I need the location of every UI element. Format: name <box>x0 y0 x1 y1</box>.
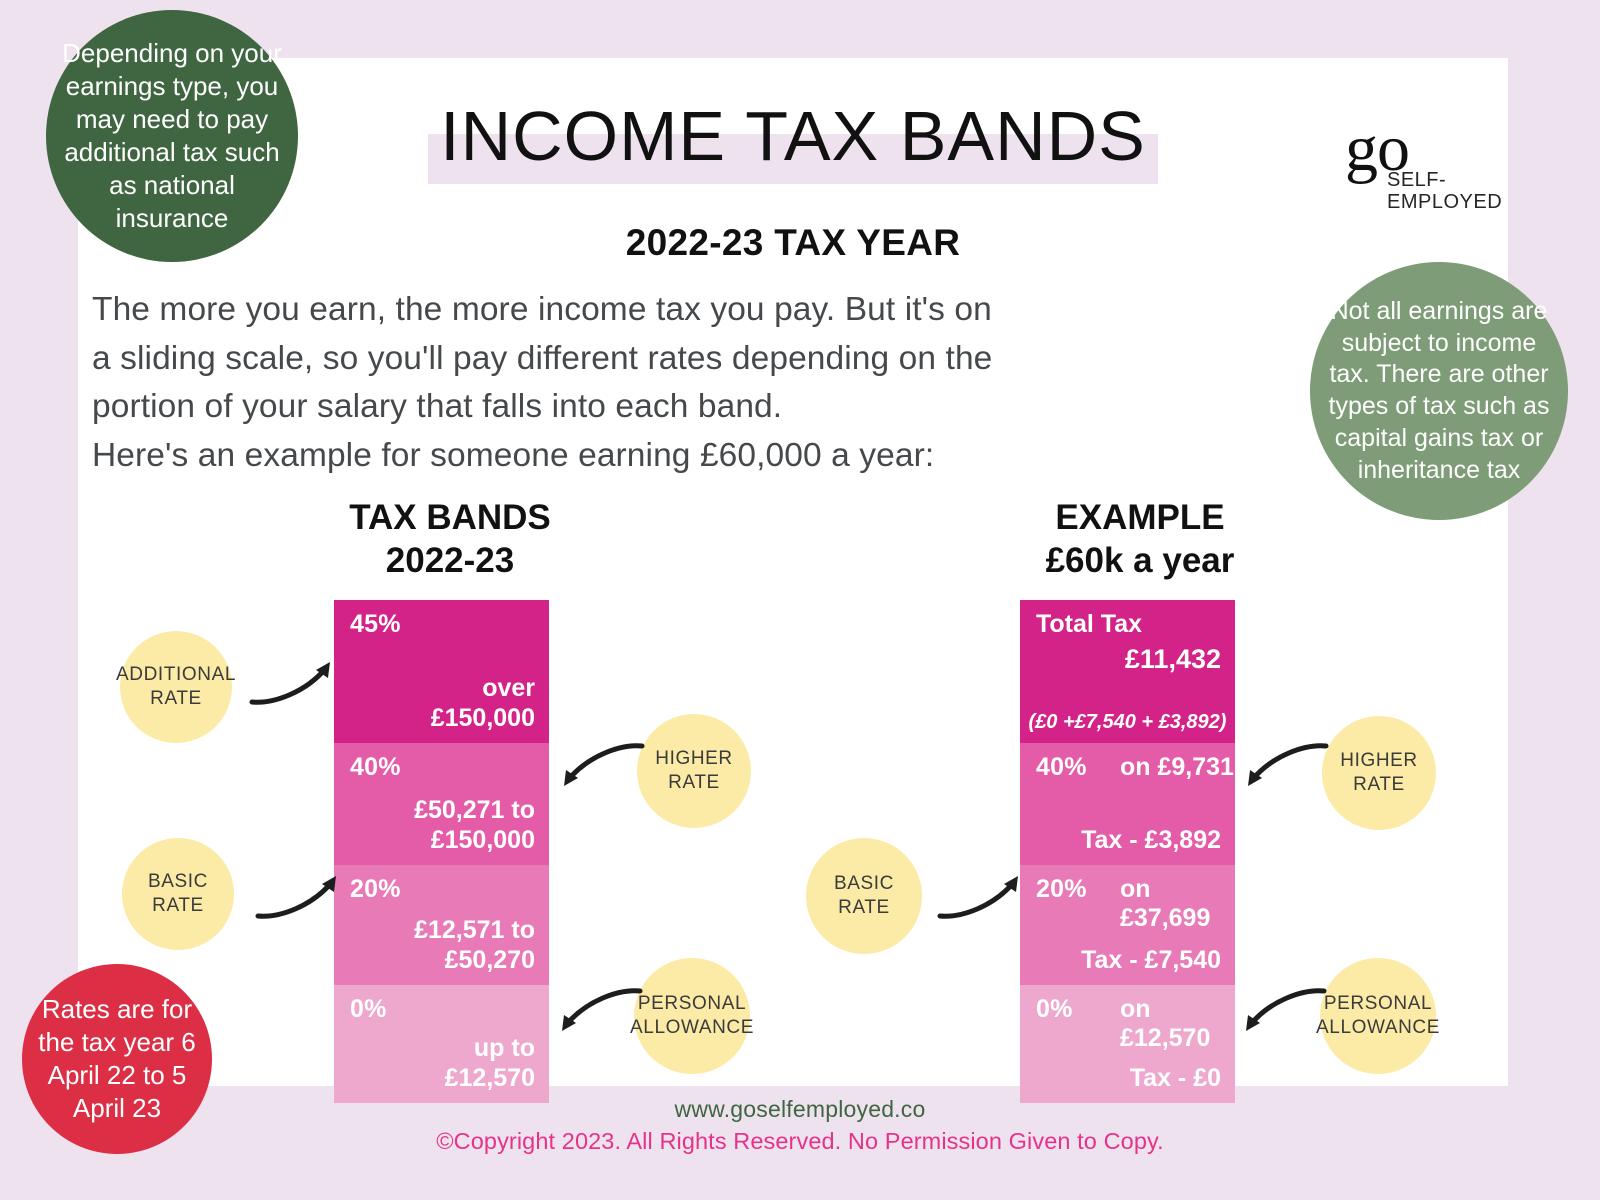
basic-rate-middle-line2: RATE <box>834 896 894 920</box>
arrow-left-personal-allowance-icon <box>554 985 646 1045</box>
label-higher-rate-left: HIGHER RATE <box>637 714 751 828</box>
example-row-on: on £12,570 <box>1120 995 1235 1053</box>
basic-rate-left-line1: BASIC <box>148 870 208 894</box>
bands-heading-line2: 2022-23 <box>290 540 610 583</box>
logo-tagline-line2: EMPLOYED <box>1387 192 1502 214</box>
example-column-heading: EXAMPLE £60k a year <box>975 497 1305 582</box>
example-stack: Total Tax£11,432(£0 +£7,540 + £3,892)40%… <box>1020 600 1235 1103</box>
personal-allowance-left-line2: ALLOWANCE <box>630 1016 754 1040</box>
example-heading-line2: £60k a year <box>975 540 1305 583</box>
tax-band-range-line2: £12,570 <box>445 1064 535 1092</box>
tax-band-range-line1: up to <box>474 1034 535 1062</box>
example-row: 40%on £9,731Tax - £3,892 <box>1020 743 1235 865</box>
personal-allowance-right-line1: PERSONAL <box>1316 992 1440 1016</box>
tax-band-row: 45%over£150,000 <box>334 600 549 743</box>
tax-band-range-line1: £12,571 to <box>414 916 535 944</box>
page-subtitle: 2022-23 TAX YEAR <box>78 222 1508 264</box>
bands-heading-line1: TAX BANDS <box>290 497 610 540</box>
footer-copyright: ©Copyright 2023. All Rights Reserved. No… <box>0 1128 1600 1155</box>
arrow-right-additional-icon <box>246 648 342 710</box>
label-higher-rate-right: HIGHER RATE <box>1322 716 1436 830</box>
tax-band-rate: 45% <box>350 610 535 639</box>
basic-rate-left-line2: RATE <box>148 894 208 918</box>
intro-line-3: portion of your salary that falls into e… <box>92 383 1312 432</box>
example-row-tax: Tax - £3,892 <box>1081 826 1221 856</box>
bands-column-heading: TAX BANDS 2022-23 <box>290 497 610 582</box>
example-heading-line1: EXAMPLE <box>975 497 1305 540</box>
tax-bands-stack: 45%over£150,00040%£50,271 to£150,00020%£… <box>334 600 549 1103</box>
label-basic-rate-left: BASIC RATE <box>122 838 234 950</box>
basic-rate-middle-line1: BASIC <box>834 872 894 896</box>
tax-band-rate: 20% <box>350 875 535 904</box>
tax-band-range: over£150,000 <box>431 674 535 733</box>
example-total-label: Total Tax <box>1036 610 1221 639</box>
higher-rate-right-line2: RATE <box>1340 773 1418 797</box>
page-title-text: INCOME TAX BANDS <box>440 97 1146 175</box>
tax-band-range-line1: over <box>482 674 535 702</box>
additional-rate-line1: ADDITIONAL <box>116 663 236 687</box>
tax-band-range: up to£12,570 <box>445 1034 535 1093</box>
personal-allowance-left-line1: PERSONAL <box>630 992 754 1016</box>
example-row-on: on £9,731 <box>1120 753 1234 782</box>
tax-band-range: £50,271 to£150,000 <box>414 796 535 855</box>
tax-band-range: £12,571 to£50,270 <box>414 916 535 975</box>
label-personal-allowance-right: PERSONAL ALLOWANCE <box>1320 958 1436 1074</box>
tax-band-range-line2: £50,270 <box>445 946 535 974</box>
example-row: Total Tax£11,432(£0 +£7,540 + £3,892) <box>1020 600 1235 743</box>
arrow-right-basic-example-icon <box>934 862 1030 924</box>
arrow-left-higher-icon <box>556 740 648 800</box>
logo-tagline: SELF- EMPLOYED <box>1387 170 1502 213</box>
higher-rate-left-line1: HIGHER <box>655 747 733 771</box>
tax-band-range-line1: £50,271 to <box>414 796 535 824</box>
example-row: 20%on £37,699Tax - £7,540 <box>1020 865 1235 985</box>
example-row-tax: Tax - £0 <box>1130 1064 1221 1094</box>
higher-rate-left-line2: RATE <box>655 771 733 795</box>
example-row-on: on £37,699 <box>1120 875 1235 933</box>
arrow-left-personal-allowance-example-icon <box>1238 985 1330 1045</box>
callout-other-taxes: Not all earnings are subject to income t… <box>1310 262 1568 520</box>
tax-band-row: 40%£50,271 to£150,000 <box>334 743 549 865</box>
brand-logo: go SELF- EMPLOYED <box>1345 118 1505 228</box>
higher-rate-right-line1: HIGHER <box>1340 749 1418 773</box>
arrow-left-higher-example-icon <box>1240 740 1332 800</box>
intro-paragraph: The more you earn, the more income tax y… <box>92 286 1312 480</box>
tax-band-range-line2: £150,000 <box>431 704 535 732</box>
tax-band-row: 0%up to£12,570 <box>334 985 549 1103</box>
label-additional-rate: ADDITIONAL RATE <box>120 631 232 743</box>
footer-url[interactable]: www.goselfemployed.co <box>0 1096 1600 1123</box>
logo-tagline-line1: SELF- <box>1387 170 1502 192</box>
example-row-tax: Tax - £7,540 <box>1081 946 1221 976</box>
arrow-right-basic-icon <box>252 862 348 924</box>
personal-allowance-right-line2: ALLOWANCE <box>1316 1016 1440 1040</box>
tax-band-range-line2: £150,000 <box>431 826 535 854</box>
callout-national-insurance: Depending on your earnings type, you may… <box>46 10 298 262</box>
example-total-breakdown: (£0 +£7,540 + £3,892) <box>1028 711 1227 733</box>
tax-band-rate: 0% <box>350 995 535 1024</box>
label-personal-allowance-left: PERSONAL ALLOWANCE <box>634 958 750 1074</box>
intro-line-4: Here's an example for someone earning £6… <box>92 432 1312 481</box>
tax-band-rate: 40% <box>350 753 535 782</box>
additional-rate-line2: RATE <box>116 687 236 711</box>
intro-line-2: a sliding scale, so you'll pay different… <box>92 335 1312 384</box>
tax-band-row: 20%£12,571 to£50,270 <box>334 865 549 985</box>
label-basic-rate-middle: BASIC RATE <box>806 838 922 954</box>
intro-line-1: The more you earn, the more income tax y… <box>92 286 1312 335</box>
footer: www.goselfemployed.co ©Copyright 2023. A… <box>0 1096 1600 1155</box>
example-row: 0%on £12,570Tax - £0 <box>1020 985 1235 1103</box>
example-total-amount: £11,432 <box>1125 644 1221 675</box>
infographic-root: INCOME TAX BANDS 2022-23 TAX YEAR go SEL… <box>0 0 1600 1200</box>
